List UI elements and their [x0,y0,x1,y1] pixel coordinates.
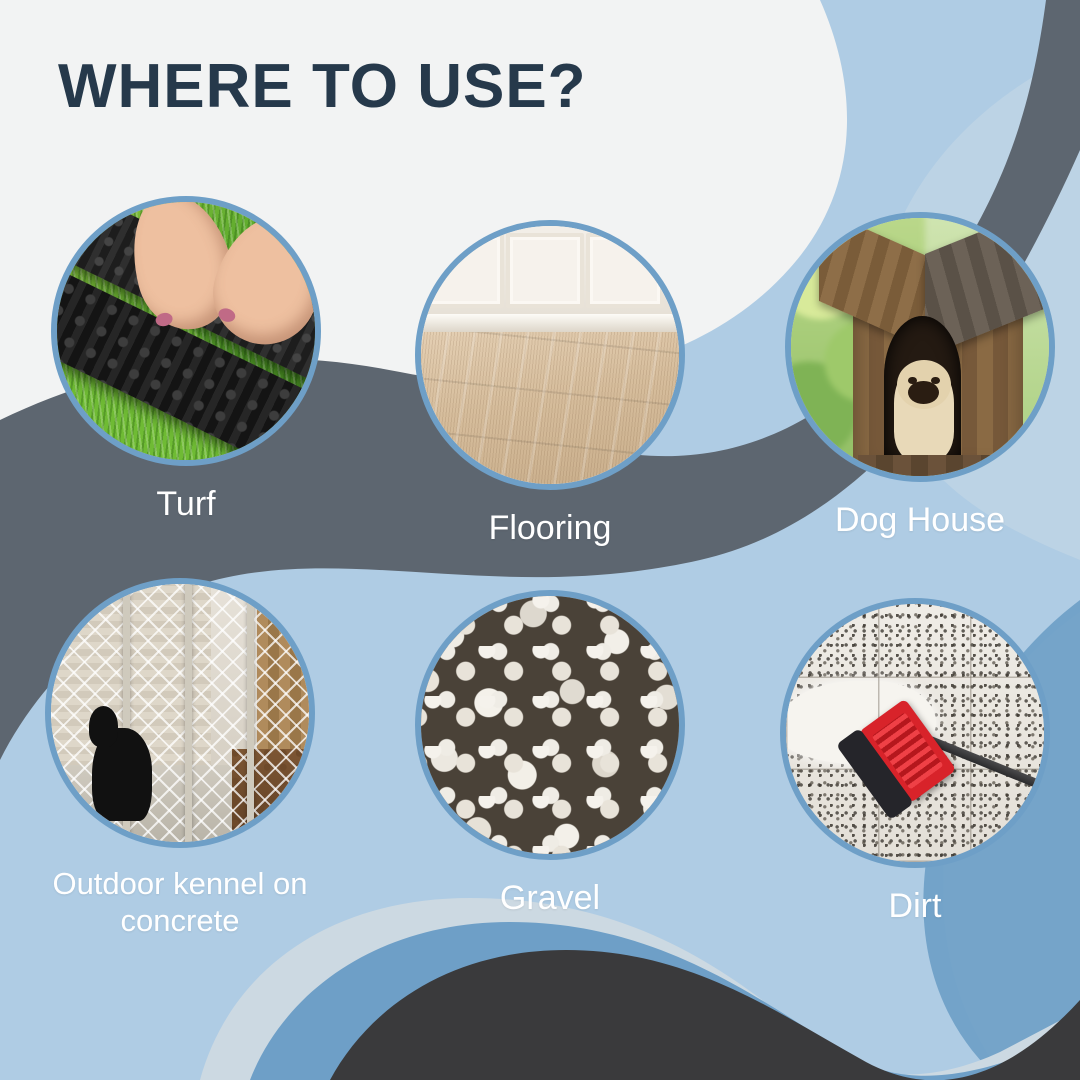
use-case-grid: Turf Flooring [0,0,1080,1080]
use-case-label-dirt: Dirt [765,886,1065,926]
use-case-item-flooring[interactable]: Flooring [400,220,700,548]
use-case-label-gravel: Gravel [400,878,700,918]
gravel-image [415,590,685,860]
use-case-label-flooring: Flooring [400,508,700,548]
use-case-item-turf[interactable]: Turf [36,196,336,524]
use-case-item-dog-house[interactable]: Dog House [770,212,1070,540]
kennel-image [45,578,315,848]
turf-image [51,196,321,466]
use-case-label-dog-house: Dog House [770,500,1070,540]
use-case-label-kennel: Outdoor kennel on concrete [30,866,330,939]
dog-house-image [785,212,1055,482]
use-case-item-gravel[interactable]: Gravel [400,590,700,918]
use-case-item-kennel[interactable]: Outdoor kennel on concrete [30,578,330,939]
flooring-image [415,220,685,490]
infographic-canvas: WHERE TO USE? Turf [0,0,1080,1080]
use-case-item-dirt[interactable]: Dirt [765,598,1065,926]
use-case-label-turf: Turf [36,484,336,524]
dirt-image [780,598,1050,868]
